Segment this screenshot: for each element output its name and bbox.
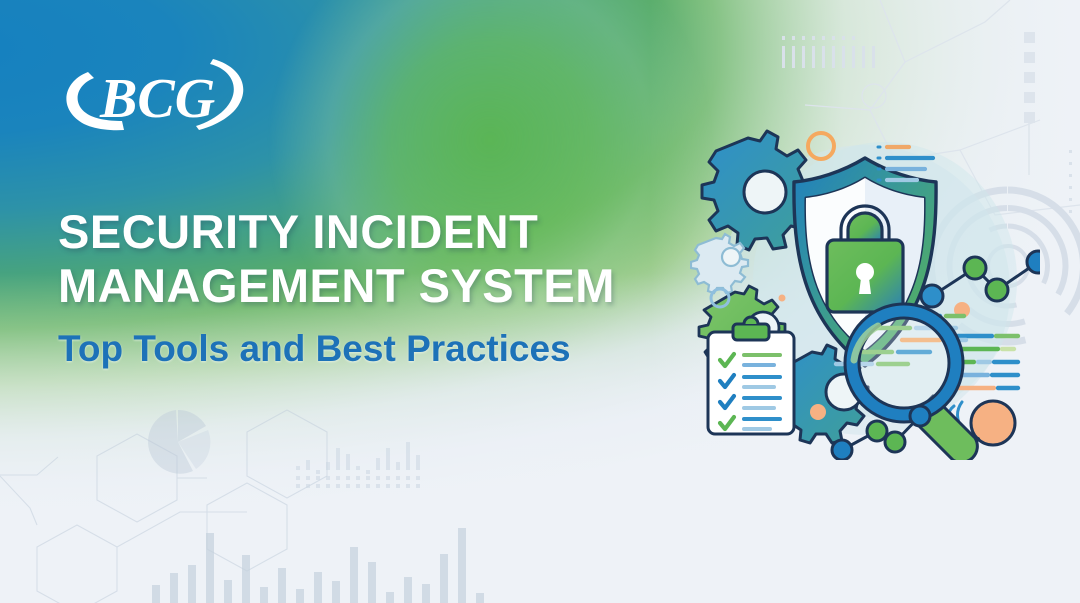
dot-orange-small	[779, 295, 786, 302]
headline-line-2: MANAGEMENT SYSTEM	[58, 259, 718, 313]
clipboard-checklist-icon	[708, 317, 794, 434]
headline-subtitle: Top Tools and Best Practices	[58, 327, 718, 371]
headline-block: SECURITY INCIDENT MANAGEMENT SYSTEM Top …	[58, 205, 718, 371]
bcg-logo-text: BCG	[99, 68, 215, 130]
bcg-logo[interactable]: BCG	[58, 58, 258, 136]
security-shield-illustration	[690, 120, 1040, 460]
banner-root: BCG SECURITY INCIDENT MANAGEMENT SYSTEM …	[0, 0, 1080, 603]
headline-line-1: SECURITY INCIDENT	[58, 205, 718, 259]
